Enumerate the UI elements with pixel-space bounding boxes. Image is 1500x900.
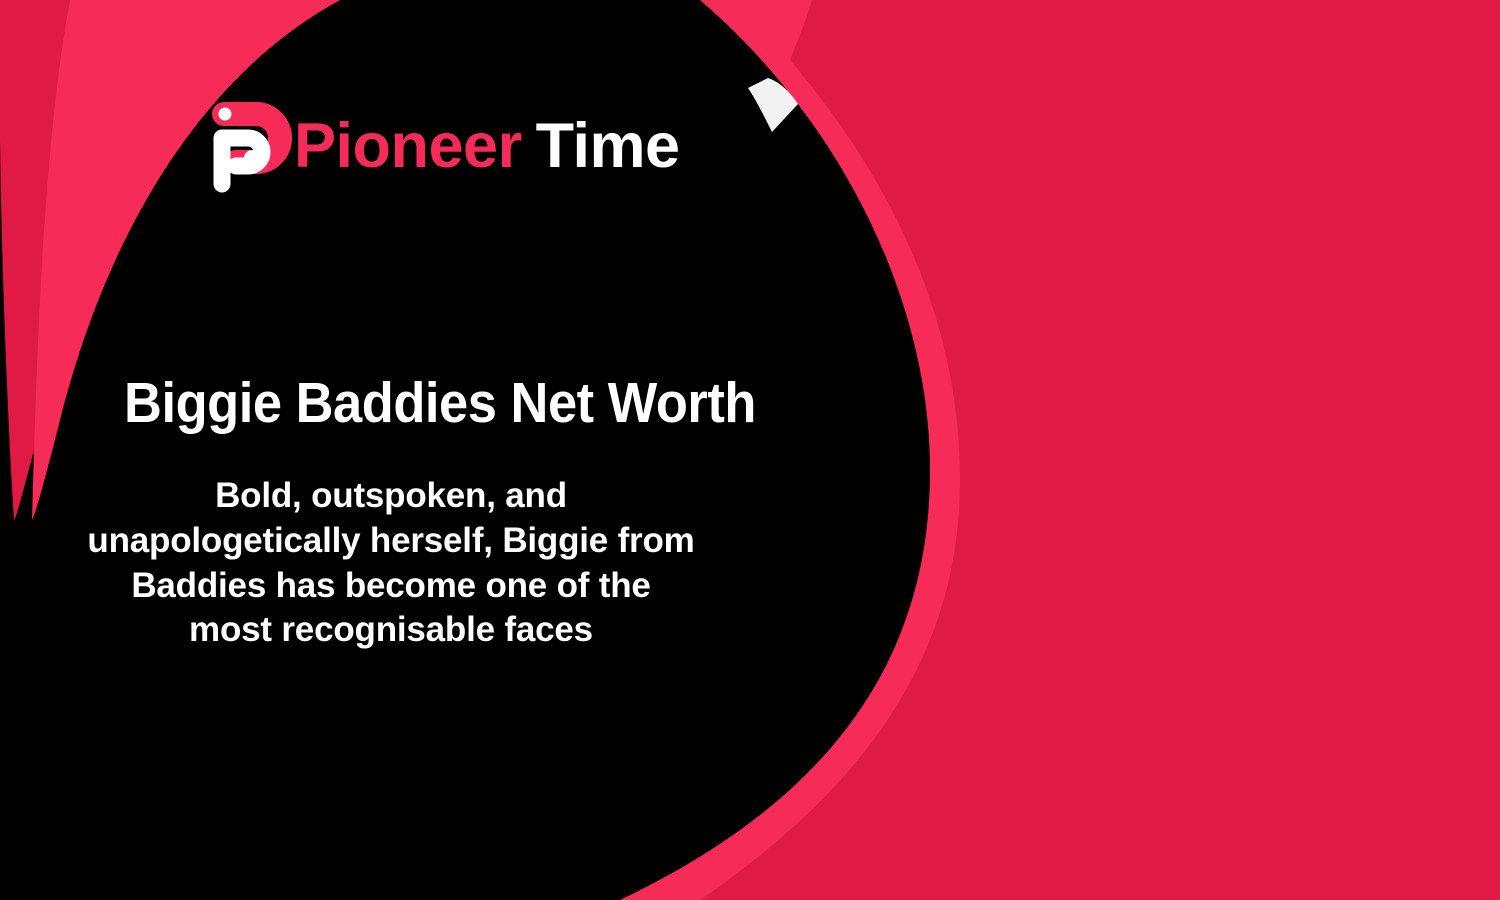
brand-name-primary: Pioneer xyxy=(294,111,522,181)
promo-banner: PioneerTime Biggie Baddies Net Worth Bol… xyxy=(0,0,1500,900)
brand-name-secondary: Time xyxy=(536,111,680,181)
subheading-paragraph: Bold, outspoken, and unapologetically he… xyxy=(0,474,782,653)
subheading-line: Bold, outspoken, and xyxy=(0,474,782,519)
subheading-line: Baddies has become one of the xyxy=(0,564,782,609)
page-title: Biggie Baddies Net Worth xyxy=(35,374,845,434)
pioneer-p-monogram-icon xyxy=(200,96,292,200)
brand-logo[interactable]: PioneerTime xyxy=(200,96,680,200)
left-leaf-shape-front xyxy=(32,0,340,520)
left-leaf-shape-back xyxy=(0,0,340,520)
crescent-notch xyxy=(748,78,798,132)
brand-name: PioneerTime xyxy=(294,115,680,182)
subheading-line: most recognisable faces xyxy=(0,608,782,653)
subheading-line: unapologetically herself, Biggie from xyxy=(0,519,782,564)
